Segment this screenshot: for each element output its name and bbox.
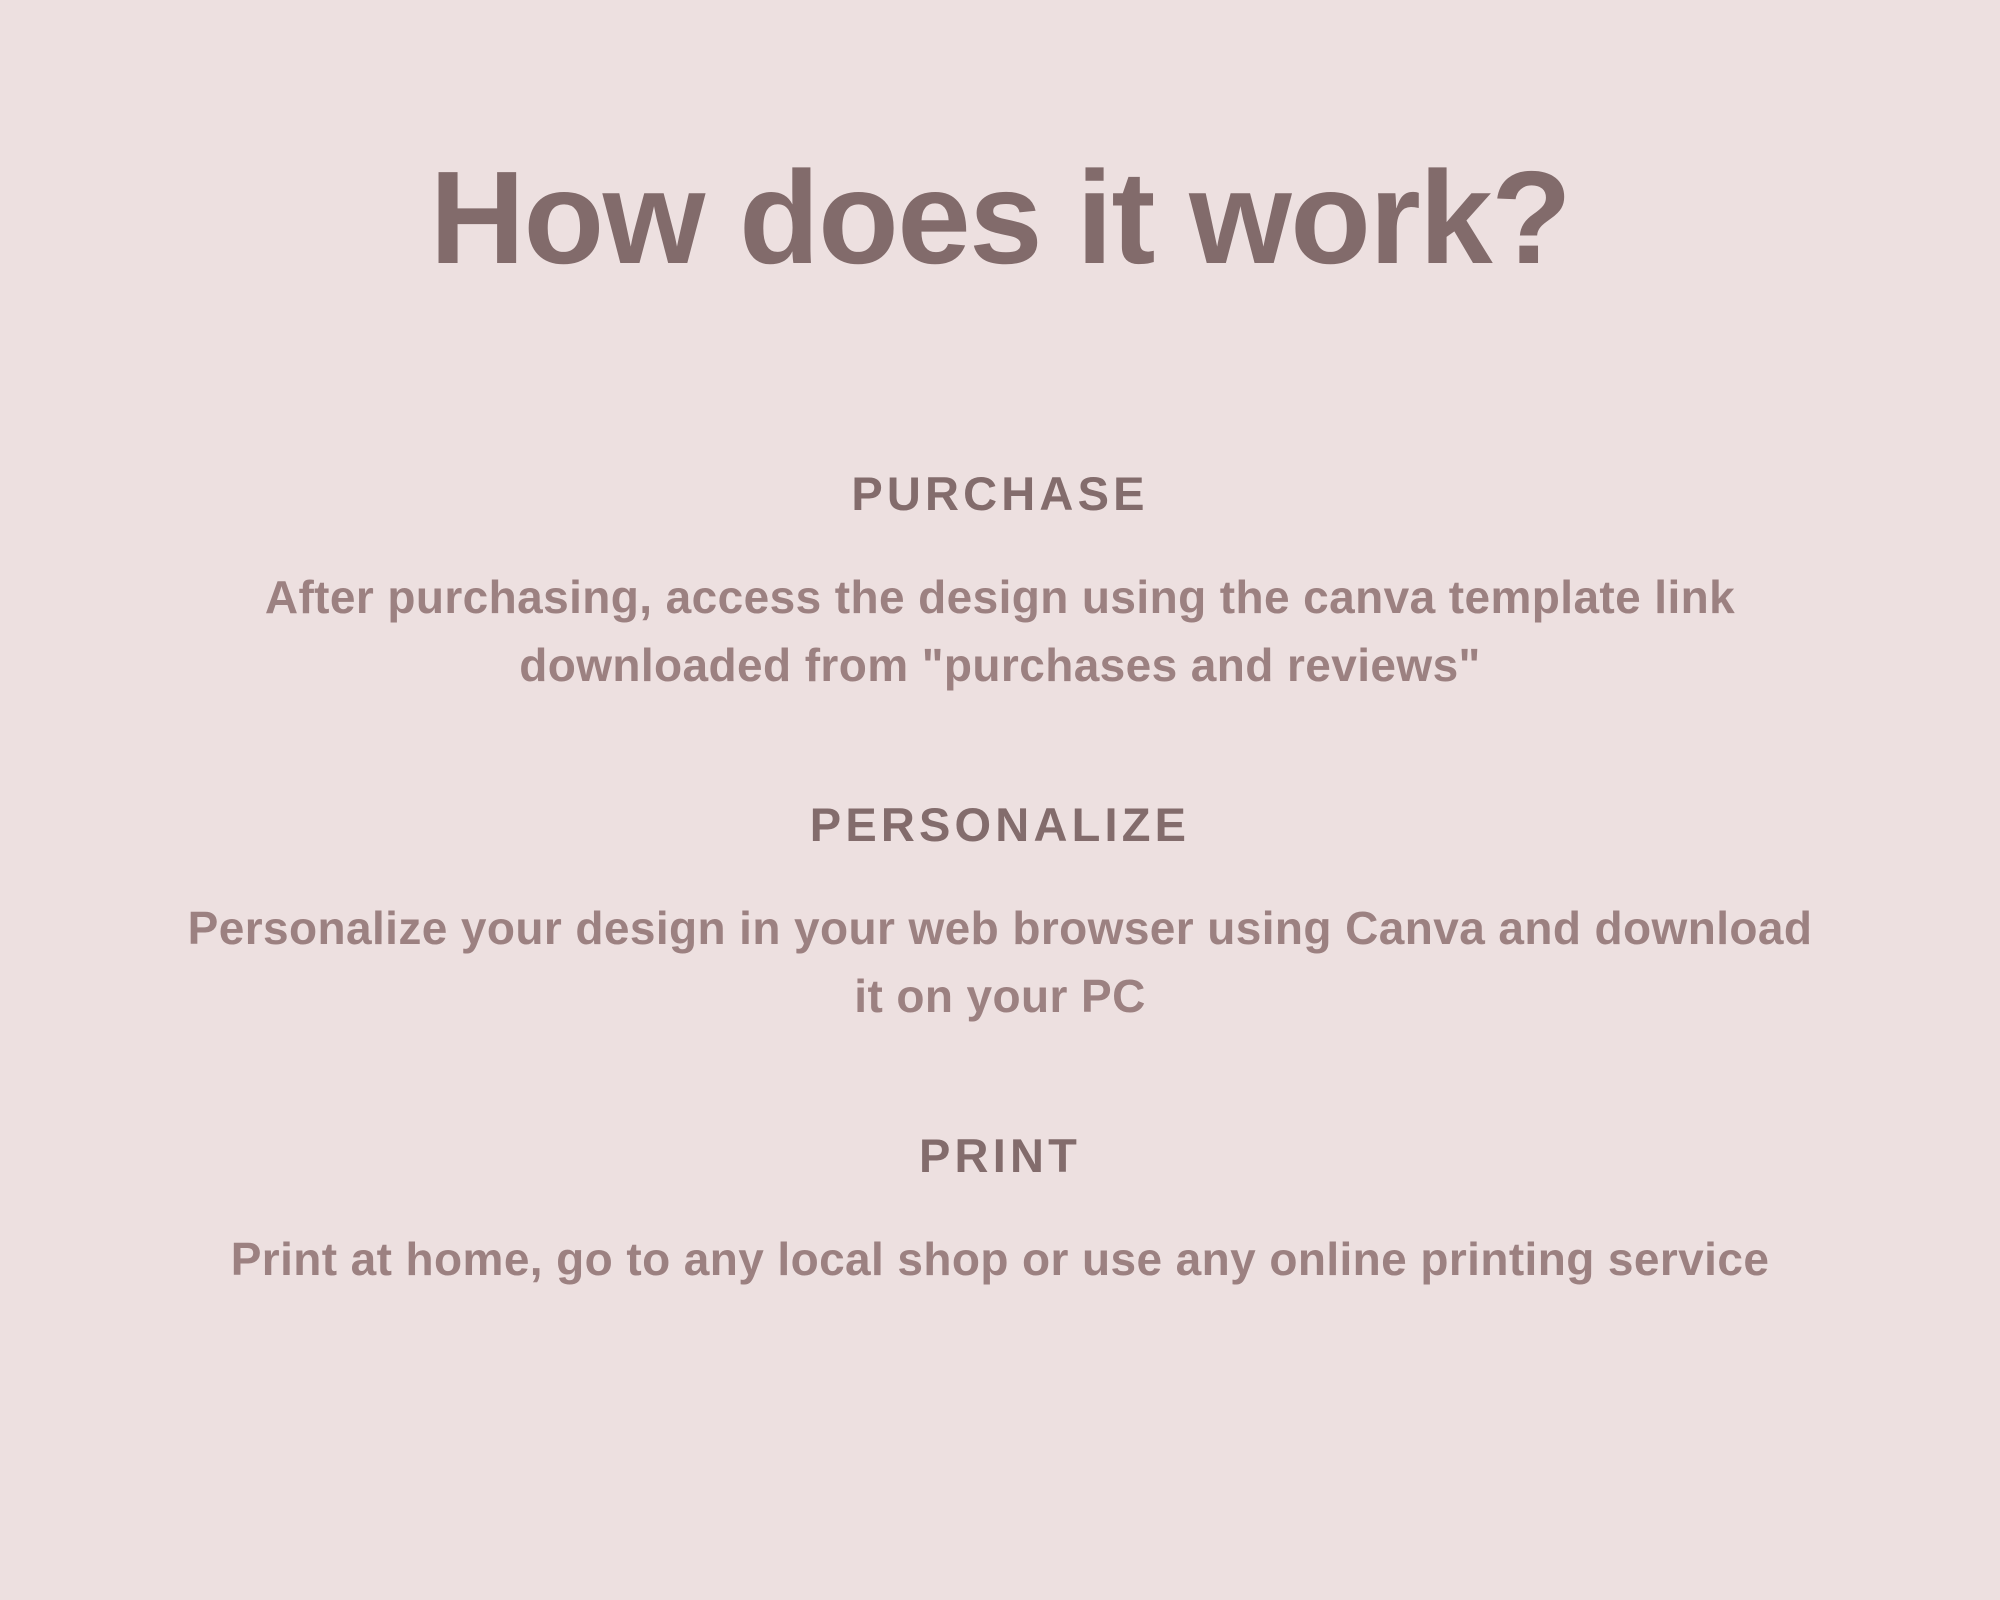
step-personalize: PERSONALIZE Personalize your design in y… bbox=[150, 801, 1850, 1030]
step-body-print: Print at home, go to any local shop or u… bbox=[231, 1225, 1770, 1293]
step-purchase: PURCHASE After purchasing, access the de… bbox=[150, 470, 1850, 699]
page-title: How does it work? bbox=[0, 152, 2000, 284]
step-heading-personalize: PERSONALIZE bbox=[810, 801, 1190, 848]
how-it-works-poster: How does it work? PURCHASE After purchas… bbox=[0, 0, 2000, 1600]
steps-list: PURCHASE After purchasing, access the de… bbox=[0, 470, 2000, 1293]
step-print: PRINT Print at home, go to any local sho… bbox=[150, 1132, 1850, 1293]
step-body-personalize: Personalize your design in your web brow… bbox=[180, 894, 1820, 1030]
step-body-purchase: After purchasing, access the design usin… bbox=[180, 563, 1820, 699]
step-heading-purchase: PURCHASE bbox=[851, 470, 1148, 517]
step-heading-print: PRINT bbox=[919, 1132, 1081, 1179]
